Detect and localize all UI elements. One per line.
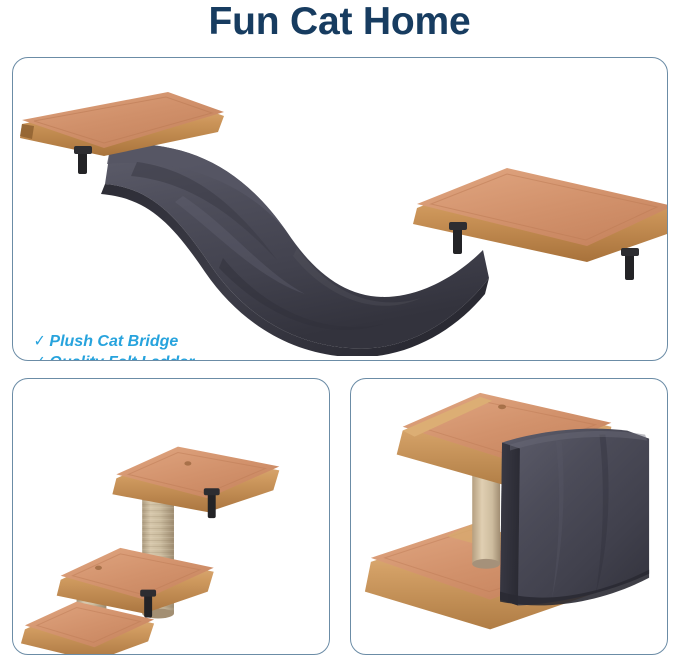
caption-plush-cat-bridge: ✓Plush Cat Bridge: [33, 334, 194, 350]
screw-hole: [95, 566, 102, 570]
screw-hole: [184, 461, 191, 465]
caption-text: Quality Felt Ladder: [49, 354, 194, 361]
panel-secure-cat-house: ✓Secure Cat House: [350, 378, 668, 655]
caption-quality-felt-ladder: ✓Quality Felt Ladder: [33, 355, 194, 361]
cat-bridge-illustration: [13, 58, 667, 360]
screw-hole: [498, 404, 506, 409]
ladder-shelf-top: [112, 447, 279, 519]
check-icon: ✓: [34, 334, 46, 350]
panel-scratching-post-ladder: ✓Fun Scratching Post ladder: [12, 378, 330, 655]
plush-side-curtain: [500, 429, 649, 606]
secure-cat-house-illustration: [351, 379, 667, 654]
page-title: Fun Cat Home: [0, 0, 679, 48]
caption-text: Plush Cat Bridge: [49, 333, 178, 350]
right-wall-shelf: [411, 150, 668, 280]
left-wall-shelf: [18, 90, 228, 178]
panel-cat-bridge: ✓Plush Cat Bridge ✓Quality Felt Ladder: [12, 57, 668, 361]
check-icon: ✓: [34, 355, 46, 361]
scratching-post-ladder-illustration: [13, 379, 329, 654]
bridge-captions: ✓Plush Cat Bridge ✓Quality Felt Ladder: [33, 334, 194, 361]
infographic-root: Fun Cat Home: [0, 0, 679, 667]
